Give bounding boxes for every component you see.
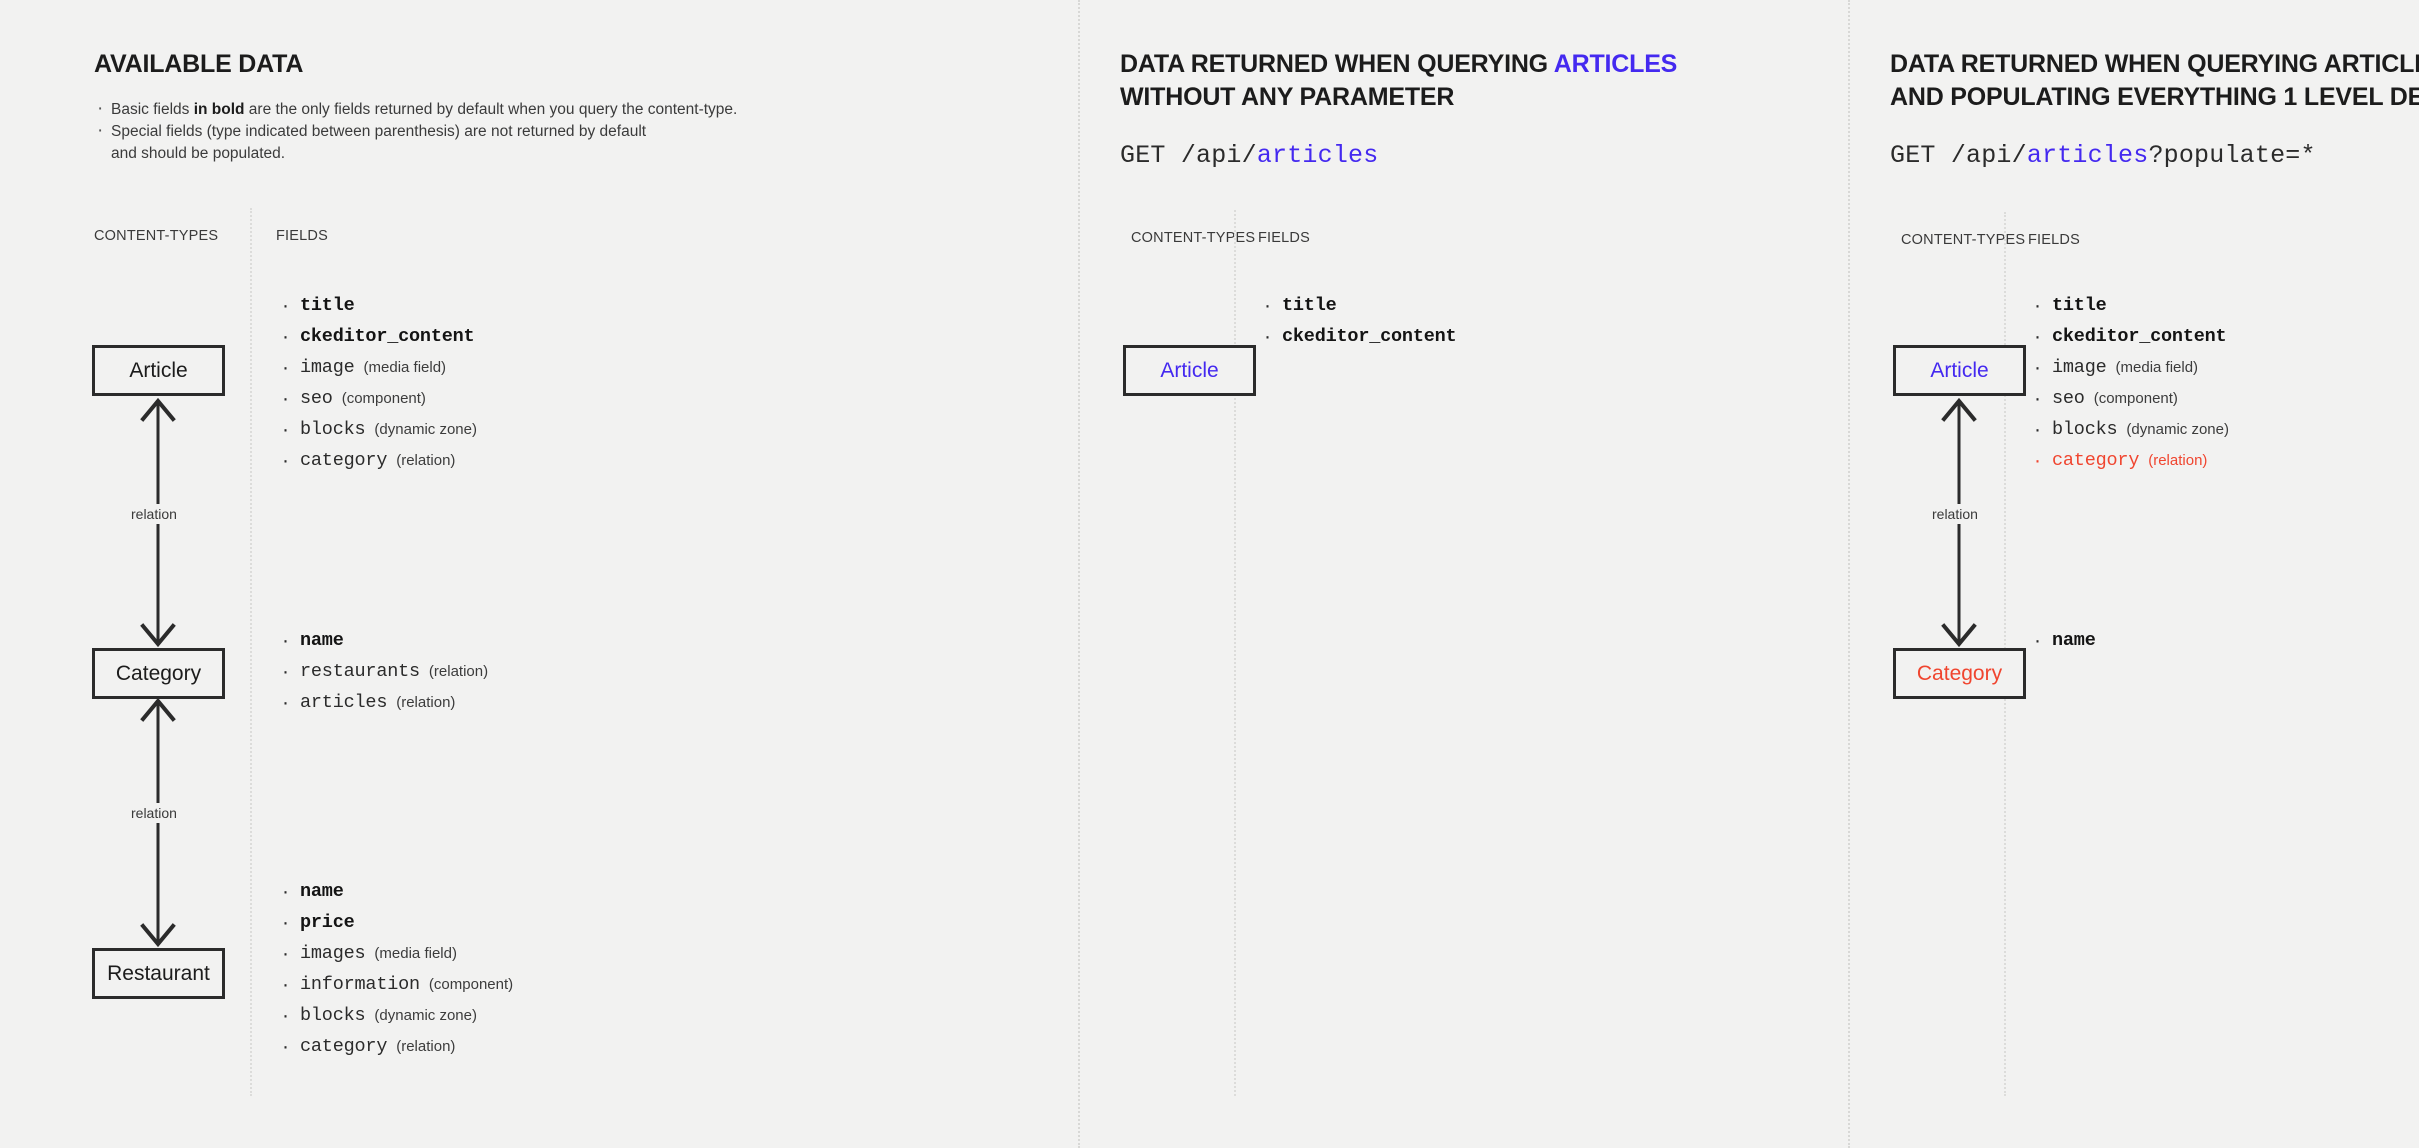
relation-arrows-panel-3 xyxy=(1848,0,2419,1148)
panel-1-title: AVAILABLE DATA xyxy=(94,48,303,81)
field-row: seo(component) xyxy=(2028,383,2235,414)
fieldlist-restaurant: name price images(media field) informati… xyxy=(276,876,513,1062)
endpoint-method: GET xyxy=(1890,141,1936,170)
node-article-label: Article xyxy=(1160,359,1218,383)
field-row: image(media field) xyxy=(2028,352,2235,383)
node-category-label: Category xyxy=(116,662,201,686)
field-row: name xyxy=(2028,625,2105,656)
panel-2-title-line2: WITHOUT ANY PARAMETER xyxy=(1120,81,1677,114)
node-article[interactable]: Article xyxy=(92,345,225,396)
panel-3-title-line1: DATA RETURNED WHEN QUERYING ARTICLES xyxy=(1890,48,2419,81)
column-header-content-types: CONTENT-TYPES xyxy=(94,228,218,244)
endpoint-suffix: ?populate=* xyxy=(2148,141,2315,170)
column-header-fields: FIELDS xyxy=(1258,230,1310,246)
fieldlist-category: name restaurants(relation) articles(rela… xyxy=(276,625,488,718)
node-category[interactable]: Category xyxy=(92,648,225,699)
field-row: seo(component) xyxy=(276,383,483,414)
panel-1-notes: Basic fields in bold are the only fields… xyxy=(94,99,737,165)
endpoint-resource: articles xyxy=(1257,141,1379,170)
node-restaurant[interactable]: Restaurant xyxy=(92,948,225,999)
endpoint-method: GET xyxy=(1120,141,1166,170)
panel-3-endpoint: GET /api/articles?populate=* xyxy=(1890,141,2316,170)
relation-label-category-restaurant: relation xyxy=(126,803,182,823)
field-row: articles(relation) xyxy=(276,687,488,718)
column-header-fields: FIELDS xyxy=(2028,232,2080,248)
panel-query-populate-all: DATA RETURNED WHEN QUERYING ARTICLES AND… xyxy=(1848,0,2419,1148)
relation-label-article-category: relation xyxy=(1927,504,1983,524)
field-row: information(component) xyxy=(276,969,513,1000)
note-post: are the only fields returned by default … xyxy=(245,101,738,118)
panel-3-title: DATA RETURNED WHEN QUERYING ARTICLES AND… xyxy=(1890,48,2419,114)
node-restaurant-label: Restaurant xyxy=(107,962,210,986)
field-row: images(media field) xyxy=(276,938,513,969)
node-article-label: Article xyxy=(129,359,187,383)
fieldlist-article: title ckeditor_content xyxy=(1258,290,1465,352)
column-header-fields: FIELDS xyxy=(276,228,328,244)
field-row: ckeditor_content xyxy=(1258,321,1465,352)
fieldlist-category: name xyxy=(2028,625,2105,656)
column-header-content-types: CONTENT-TYPES xyxy=(1131,230,1255,246)
field-row: category(relation) xyxy=(276,1031,513,1062)
field-row: category(relation) xyxy=(276,445,483,476)
inner-divider-panel-2 xyxy=(1234,210,1236,1096)
fieldlist-article: title ckeditor_content image(media field… xyxy=(276,290,483,476)
node-category[interactable]: Category xyxy=(1893,648,2026,699)
panel-2-endpoint: GET /api/articles xyxy=(1120,141,1378,170)
note-item: Special fields (type indicated between p… xyxy=(94,121,737,143)
field-row: ckeditor_content xyxy=(276,321,483,352)
note-pre: Basic fields xyxy=(111,101,194,118)
field-row: title xyxy=(2028,290,2235,321)
note-pre: Special fields (type indicated between p… xyxy=(111,123,646,140)
panel-available-data: AVAILABLE DATA Basic fields in bold are … xyxy=(0,0,1078,1148)
field-row: name xyxy=(276,625,488,656)
field-row: blocks(dynamic zone) xyxy=(2028,414,2235,445)
node-article-label: Article xyxy=(1930,359,1988,383)
panel-2-title: DATA RETURNED WHEN QUERYING ARTICLES WIT… xyxy=(1120,48,1677,114)
endpoint-base: /api/ xyxy=(1181,141,1257,170)
column-header-content-types: CONTENT-TYPES xyxy=(1901,232,2025,248)
panel-1-title-text: AVAILABLE DATA xyxy=(94,50,303,78)
endpoint-base: /api/ xyxy=(1951,141,2027,170)
field-row: price xyxy=(276,907,513,938)
field-row-highlighted: category(relation) xyxy=(2028,445,2235,476)
field-row: ckeditor_content xyxy=(2028,321,2235,352)
field-row: blocks(dynamic zone) xyxy=(276,1000,513,1031)
field-row: restaurants(relation) xyxy=(276,656,488,687)
field-row: blocks(dynamic zone) xyxy=(276,414,483,445)
panel-2-title-accent: ARTICLES xyxy=(1554,50,1677,78)
node-article[interactable]: Article xyxy=(1123,345,1256,396)
fieldlist-article: title ckeditor_content image(media field… xyxy=(2028,290,2235,476)
endpoint-resource: articles xyxy=(2027,141,2149,170)
field-row: image(media field) xyxy=(276,352,483,383)
inner-divider-panel-1 xyxy=(250,208,252,1096)
relation-label-article-category: relation xyxy=(126,504,182,524)
field-row: title xyxy=(276,290,483,321)
node-article[interactable]: Article xyxy=(1893,345,2026,396)
note-continuation: and should be populated. xyxy=(94,143,737,165)
node-category-label: Category xyxy=(1917,662,2002,686)
note-bold: in bold xyxy=(194,101,245,118)
panel-2-title-line1: DATA RETURNED WHEN QUERYING ARTICLES xyxy=(1120,48,1677,81)
field-row: title xyxy=(1258,290,1465,321)
field-row: name xyxy=(276,876,513,907)
panel-query-no-parameter: DATA RETURNED WHEN QUERYING ARTICLES WIT… xyxy=(1078,0,1848,1148)
panel-3-title-line2: AND POPULATING EVERYTHING 1 LEVEL DEEP xyxy=(1890,81,2419,114)
note-item: Basic fields in bold are the only fields… xyxy=(94,99,737,121)
